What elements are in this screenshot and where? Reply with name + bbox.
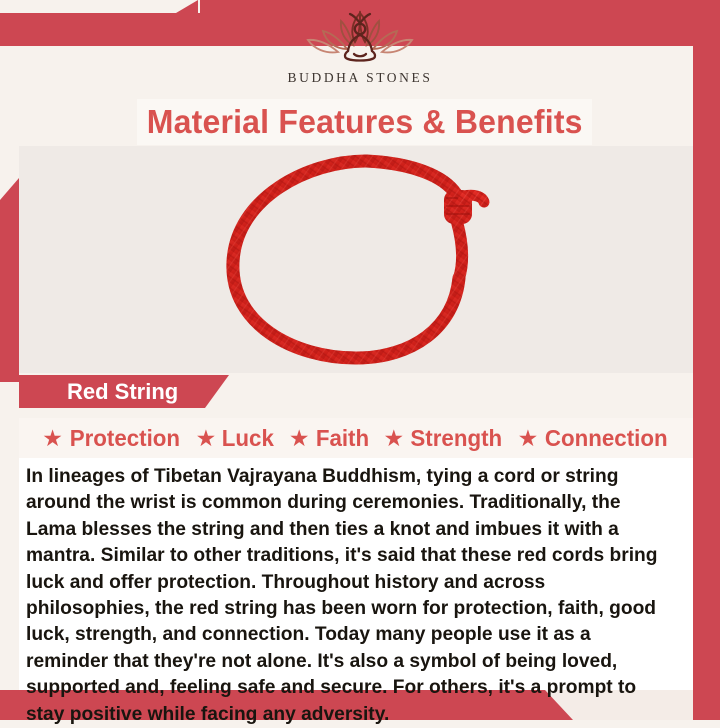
benefit-item-protection: ★ Protection — [42, 425, 181, 452]
star-icon: ★ — [196, 427, 217, 450]
product-ribbon: Red String — [19, 375, 229, 408]
benefit-item-faith: ★ Faith — [289, 425, 370, 452]
benefit-label: Connection — [545, 425, 668, 452]
star-icon: ★ — [289, 427, 310, 450]
brand-logo: BUDDHA STONES — [0, 6, 720, 86]
star-icon: ★ — [383, 427, 404, 450]
lotus-meditation-icon — [300, 6, 420, 68]
description-panel: In lineages of Tibetan Vajrayana Buddhis… — [19, 458, 693, 690]
product-photo-band — [19, 146, 693, 373]
frame-right-bar — [693, 0, 720, 720]
benefit-label: Strength — [411, 425, 503, 452]
page-title: Material Features & Benefits — [147, 103, 583, 141]
star-icon: ★ — [518, 427, 539, 450]
page-title-banner: Material Features & Benefits — [137, 99, 592, 145]
red-string-bracelet-icon — [216, 152, 496, 367]
frame-left-bar — [0, 178, 19, 382]
benefit-item-connection: ★ Connection — [518, 425, 670, 452]
product-photo — [19, 146, 693, 373]
product-ribbon-label: Red String — [19, 379, 178, 405]
benefit-label: Protection — [70, 425, 180, 452]
description-text: In lineages of Tibetan Vajrayana Buddhis… — [26, 464, 671, 728]
star-icon: ★ — [42, 427, 63, 450]
benefit-label: Luck — [222, 425, 274, 452]
frame-top-notch — [0, 0, 200, 13]
benefit-label: Faith — [315, 425, 368, 452]
benefit-item-luck: ★ Luck — [196, 425, 275, 452]
brand-name: BUDDHA STONES — [288, 70, 433, 86]
benefits-row: ★ Protection ★ Luck ★ Faith ★ Strength ★… — [19, 418, 693, 458]
benefit-item-strength: ★ Strength — [383, 425, 503, 452]
